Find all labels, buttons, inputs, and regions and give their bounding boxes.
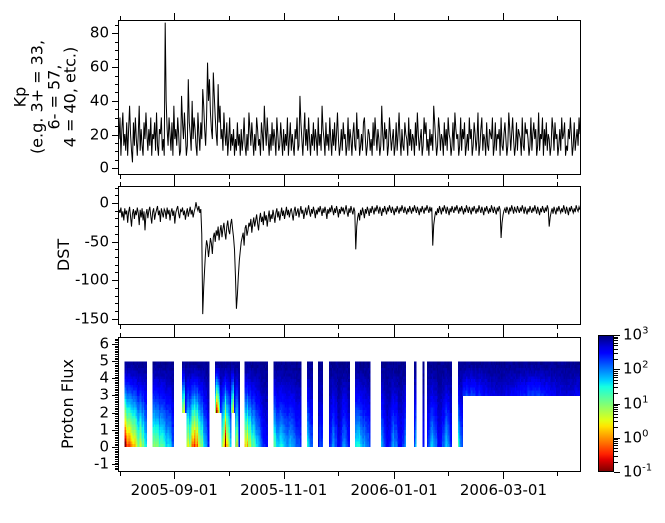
x-tick-minor-top xyxy=(557,16,558,20)
x-tick-major-top xyxy=(394,13,395,20)
x-tick-minor xyxy=(557,325,558,329)
dst-axis-title: DST xyxy=(55,239,73,271)
x-tick-minor xyxy=(229,325,230,329)
x-tick-minor xyxy=(338,325,339,329)
x-tick-minor-top xyxy=(229,16,230,20)
y-tick-label: 40 xyxy=(90,93,109,108)
x-tick-minor xyxy=(448,175,449,179)
kp-axis-title-line-4: 4 = 40, etc.) xyxy=(63,40,80,154)
x-tick-minor xyxy=(338,175,339,179)
x-tick-minor xyxy=(557,175,558,179)
y-tick-label: -150 xyxy=(75,311,109,326)
x-tick-minor-top xyxy=(120,16,121,20)
y-tick-label: -50 xyxy=(85,234,110,249)
y-tick-label: 80 xyxy=(90,26,109,41)
x-tick-major-top xyxy=(503,13,504,20)
x-tick-minor-top xyxy=(120,182,121,186)
x-tick-major-top xyxy=(503,179,504,186)
kp-axis-title: Kp (e.g. 3+ = 33, 6- = 57, 4 = 40, etc.) xyxy=(12,40,79,154)
x-tick-minor xyxy=(120,325,121,329)
solar-activity-figure: 020406080 Kp (e.g. 3+ = 33, 6- = 57, 4 =… xyxy=(0,0,665,523)
x-tick-minor-top xyxy=(338,16,339,20)
x-tick-major-top xyxy=(174,179,175,186)
x-tick-major-top xyxy=(284,179,285,186)
dst-x-axis xyxy=(118,186,581,325)
dst-axis-title-text: DST xyxy=(54,239,73,271)
y-tick-label: -100 xyxy=(75,273,109,288)
x-tick-minor xyxy=(229,175,230,179)
y-tick-label: 20 xyxy=(90,127,109,142)
x-tick-minor-top xyxy=(448,182,449,186)
x-tick-minor-top xyxy=(338,182,339,186)
y-tick-label: 0 xyxy=(99,161,109,176)
x-tick-minor xyxy=(448,325,449,329)
x-tick-minor-top xyxy=(229,182,230,186)
x-tick-major-top xyxy=(284,13,285,20)
kp-x-axis xyxy=(118,20,581,175)
x-tick-minor xyxy=(120,175,121,179)
x-tick-major-top xyxy=(394,179,395,186)
y-tick-label: 60 xyxy=(90,60,109,75)
y-tick-label: 0 xyxy=(99,195,109,210)
x-tick-minor-top xyxy=(448,16,449,20)
x-tick-minor-top xyxy=(557,182,558,186)
x-tick-major-top xyxy=(174,13,175,20)
